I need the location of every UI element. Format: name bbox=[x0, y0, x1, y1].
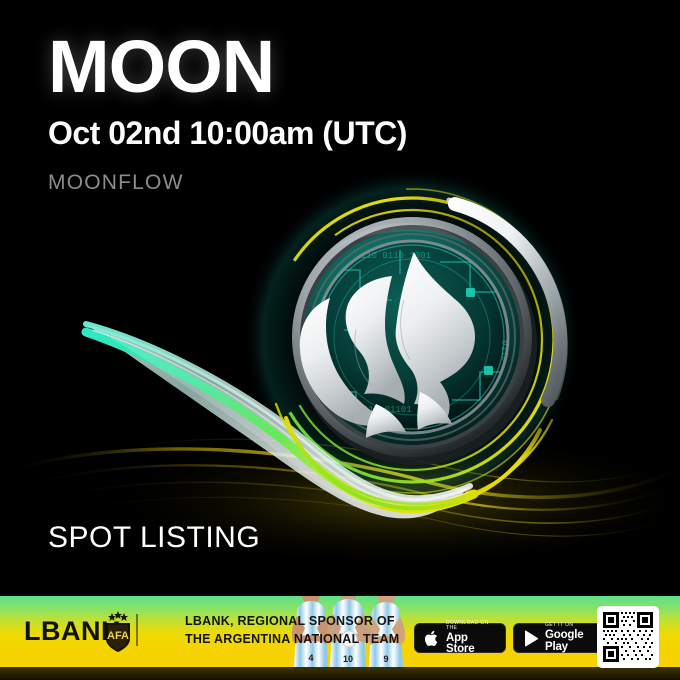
afa-crest-icon: AFA bbox=[100, 609, 136, 654]
listing-announcement-poster: 10110 0110 1001 0101 110 01101 1011010 0… bbox=[0, 0, 680, 680]
svg-text:9: 9 bbox=[383, 654, 388, 664]
logo-divider bbox=[136, 614, 138, 646]
google-play-triangle-icon bbox=[522, 629, 539, 648]
listing-type-label: SPOT LISTING bbox=[48, 521, 260, 555]
page-title: MOON bbox=[48, 32, 407, 102]
listing-datetime: Oct 02nd 10:00am (UTC) bbox=[48, 116, 407, 151]
announcement-text-block: MOON Oct 02nd 10:00am (UTC) MOONFLOW bbox=[48, 32, 407, 195]
svg-text:10: 10 bbox=[343, 654, 353, 664]
sponsor-text: LBANK, REGIONAL SPONSOR OF THE ARGENTINA… bbox=[185, 613, 399, 649]
svg-text:4: 4 bbox=[308, 653, 313, 663]
svg-text:0110 1011001: 0110 1011001 bbox=[499, 340, 509, 405]
sponsor-line-1: LBANK, REGIONAL SPONSOR OF bbox=[185, 613, 399, 631]
wolf-emblem bbox=[300, 252, 475, 438]
svg-text:1011010 0110: 1011010 0110 bbox=[311, 275, 321, 340]
glass-ribbon bbox=[86, 324, 474, 518]
google-play-badge[interactable]: GET IT ON Google Play bbox=[513, 623, 605, 653]
project-name: MOONFLOW bbox=[48, 171, 407, 195]
banner-shadow-strip bbox=[0, 667, 680, 680]
svg-text:0101 110 01101: 0101 110 01101 bbox=[336, 405, 412, 415]
google-play-small-text: GET IT ON bbox=[545, 623, 595, 628]
app-store-badge[interactable]: DOWNLOAD ON THE App Store bbox=[414, 623, 506, 653]
svg-text:AFA: AFA bbox=[107, 630, 129, 642]
app-store-big-text: App Store bbox=[446, 633, 496, 656]
google-play-big-text: Google Play bbox=[545, 630, 595, 653]
sponsor-line-2: THE ARGENTINA NATIONAL TEAM bbox=[185, 631, 399, 649]
coin-disc: 10110 0110 1001 0101 110 01101 1011010 0… bbox=[292, 217, 537, 465]
svg-text:10110 0110 1001: 10110 0110 1001 bbox=[350, 251, 431, 261]
qr-code-icon[interactable] bbox=[597, 606, 659, 668]
app-store-small-text: DOWNLOAD ON THE bbox=[446, 621, 496, 631]
apple-logo-icon bbox=[423, 629, 440, 648]
